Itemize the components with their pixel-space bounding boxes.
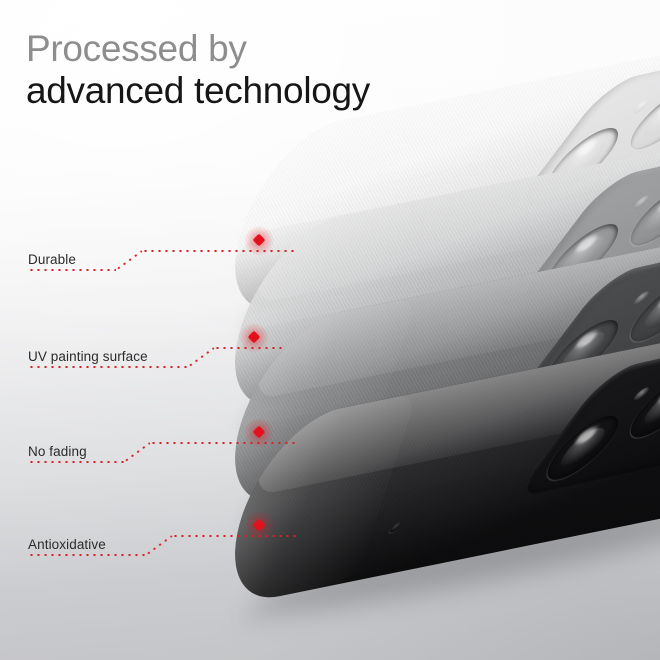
callout-no-fading: No fading [28, 423, 648, 463]
callout-leader-line [172, 535, 298, 537]
callout-marker-dot [253, 519, 266, 532]
callout-uv-painting-surface: UV painting surface [28, 328, 648, 368]
callout-durable: Durable [28, 231, 648, 271]
callout-leader-line [150, 442, 297, 444]
callout-diagonal [145, 535, 172, 556]
callout-underline [28, 269, 116, 271]
callout-group: DurableUV painting surfaceNo fadingAntio… [0, 0, 660, 660]
callout-underline [28, 366, 188, 368]
callout-diagonal [115, 250, 142, 271]
callout-diagonal [123, 442, 150, 463]
callout-label: No fading [28, 444, 87, 459]
callout-underline [28, 461, 124, 463]
callout-underline [28, 554, 146, 556]
callout-antioxidative: Antioxidative [28, 516, 648, 556]
callout-marker-dot [248, 331, 261, 344]
callout-label: UV painting surface [28, 349, 148, 364]
callout-marker-dot [253, 234, 266, 247]
callout-marker-dot [253, 426, 266, 439]
callout-diagonal [187, 347, 214, 368]
callout-label: Durable [28, 252, 76, 267]
callout-label: Antioxidative [28, 537, 106, 552]
callout-leader-line [142, 250, 294, 252]
product-feature-image: Processed by advanced technology Durable… [0, 0, 660, 660]
